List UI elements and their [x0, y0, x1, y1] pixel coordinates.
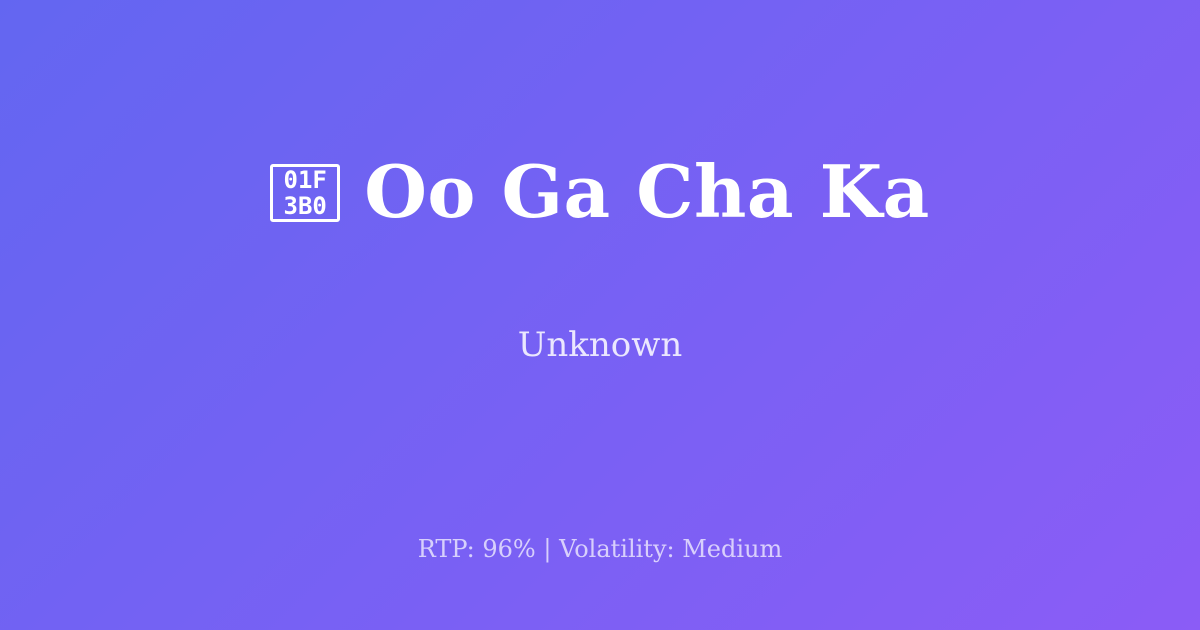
tofu-codepoint-top: 01F: [284, 168, 327, 192]
tofu-codepoint-bottom: 3B0: [284, 194, 327, 218]
title-row: 01F 3B0 Oo Ga Cha Ka: [270, 104, 930, 281]
page-title: Oo Ga Cha Ka: [364, 152, 930, 233]
slot-machine-emoji-missing-glyph-icon: 01F 3B0: [270, 164, 340, 222]
og-share-card: 01F 3B0 Oo Ga Cha Ka Unknown RTP: 96% | …: [0, 0, 1200, 630]
card-footer: RTP: 96% | Volatility: Medium: [0, 535, 1200, 564]
game-meta-text: RTP: 96% | Volatility: Medium: [418, 535, 783, 564]
card-subtitle: Unknown: [518, 325, 683, 366]
hero-block: 01F 3B0 Oo Ga Cha Ka Unknown: [0, 0, 1200, 470]
